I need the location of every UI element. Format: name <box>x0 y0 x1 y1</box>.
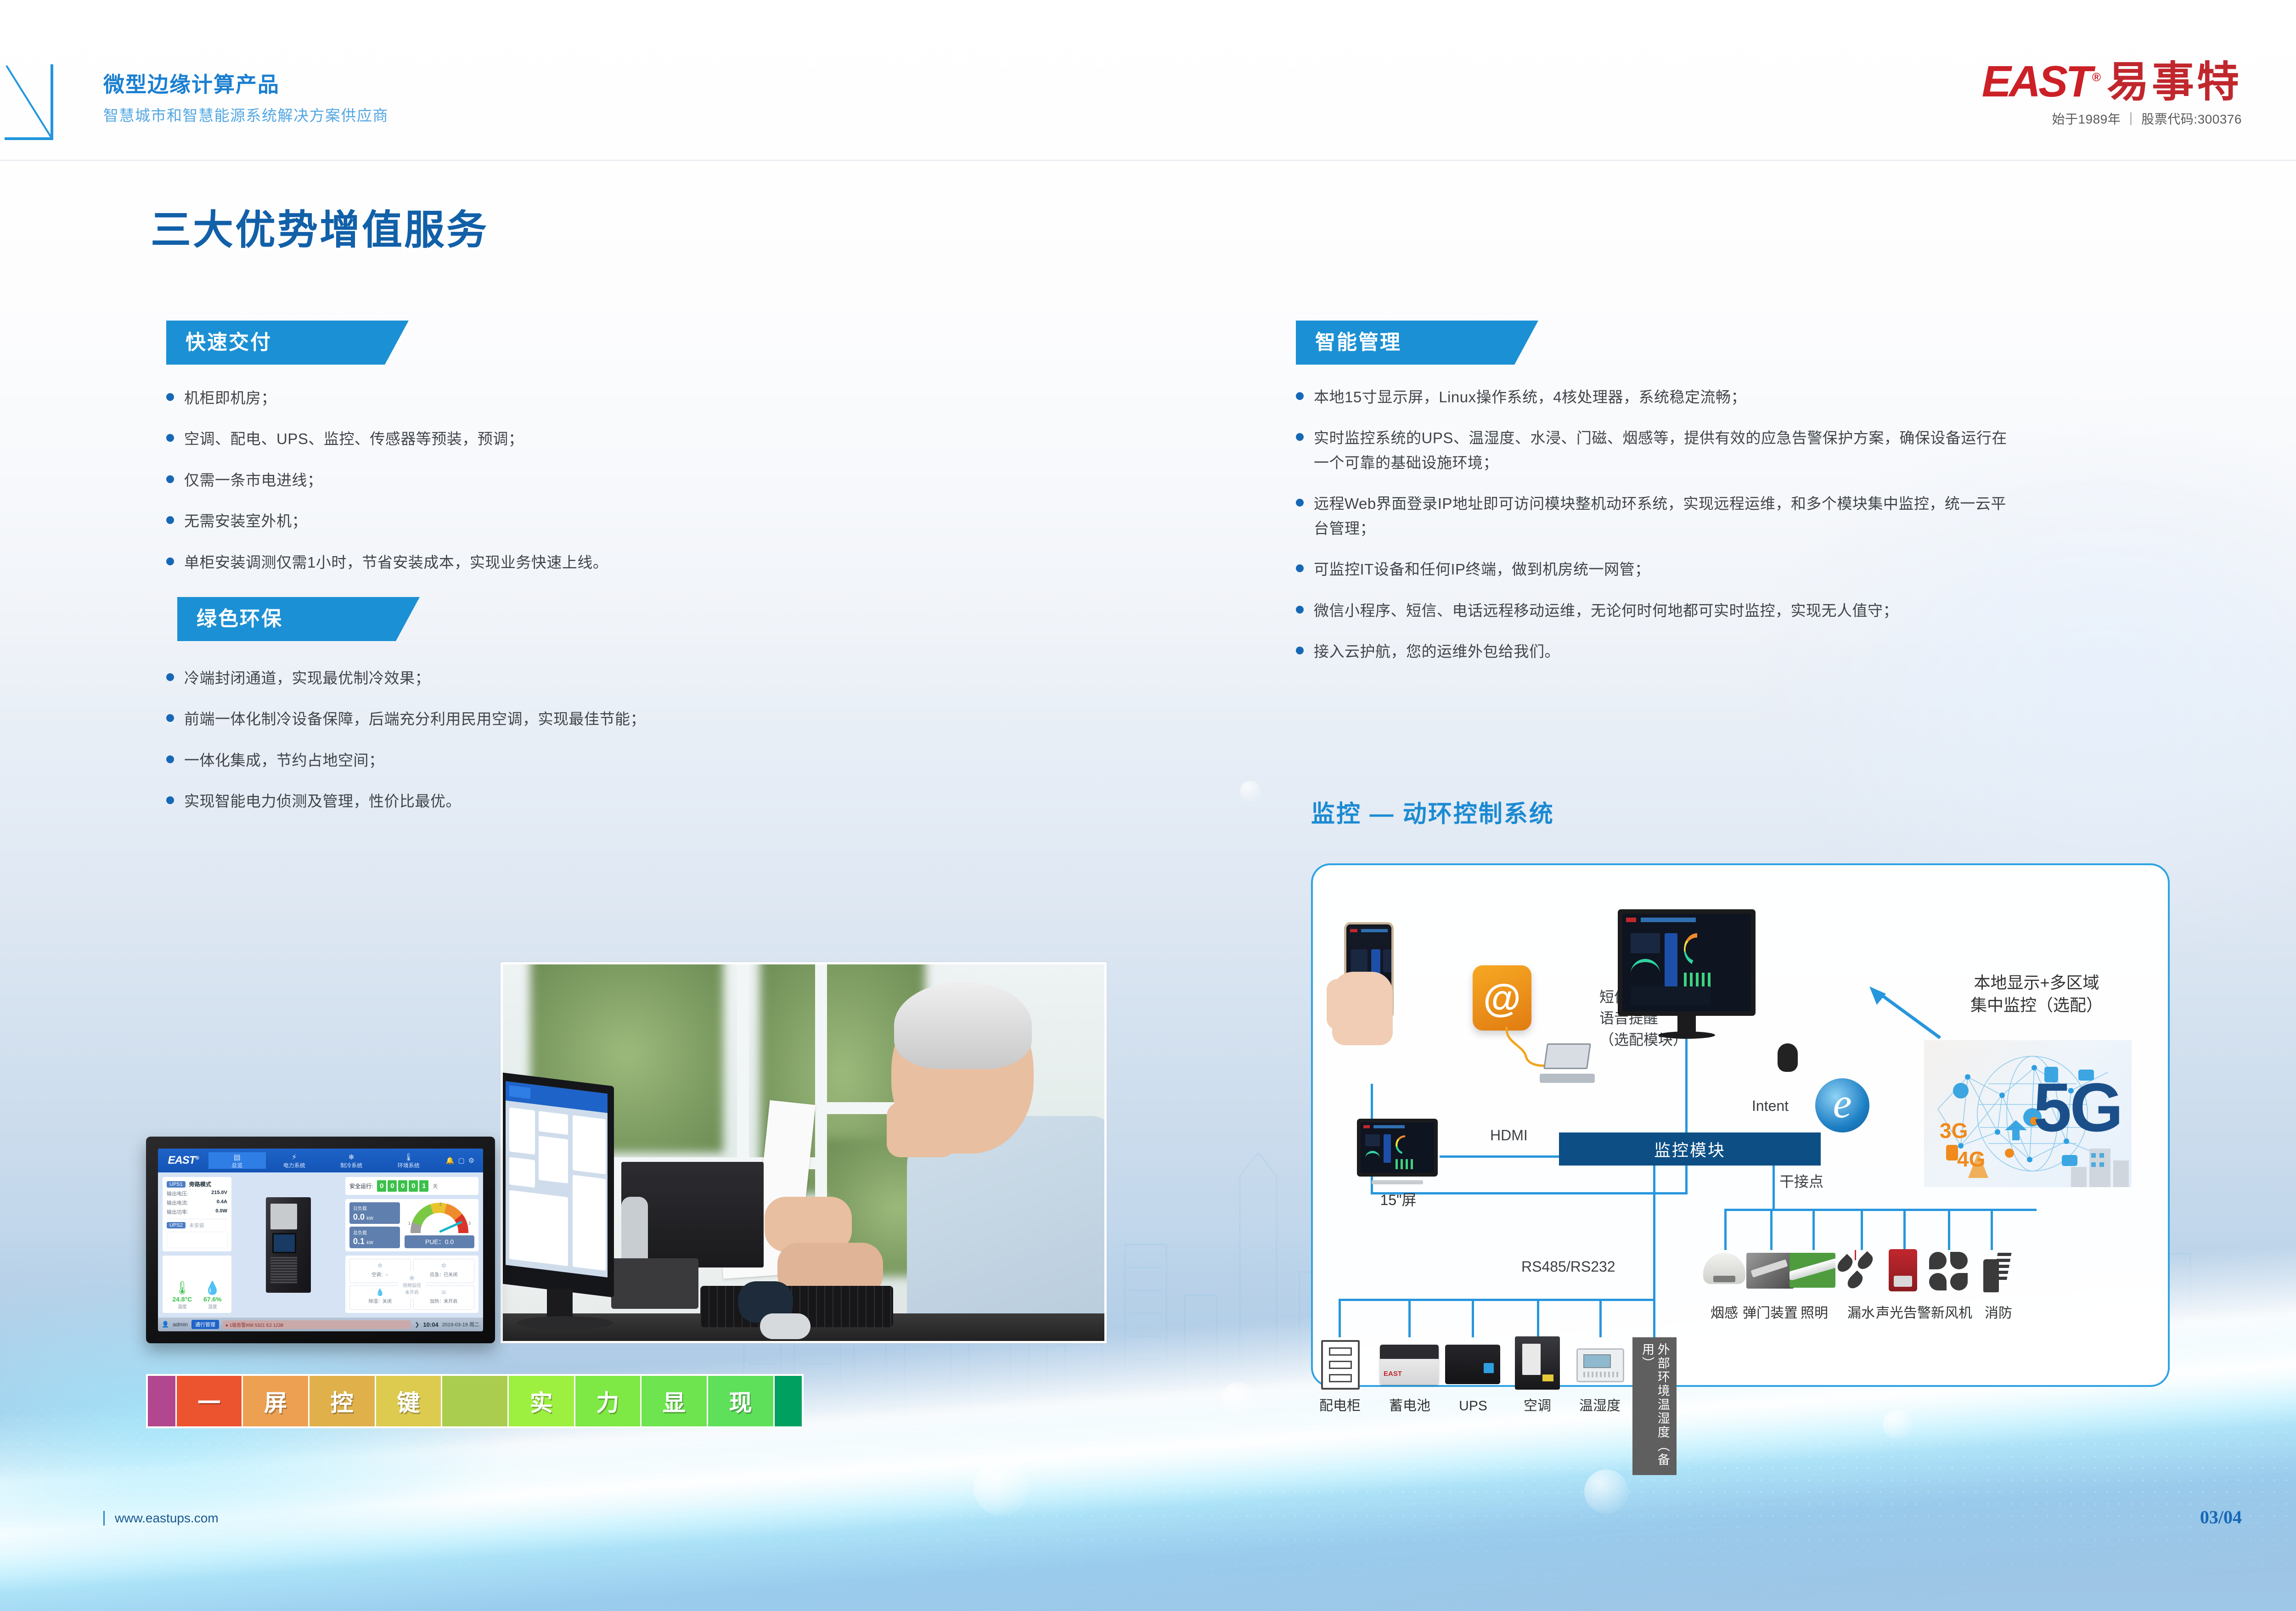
list-item: 前端一体化制冷设备保障，后端充分利用民用空调，实现最佳节能； <box>166 707 763 731</box>
bubble-decoration <box>1584 1470 1628 1514</box>
list-item: 一体化集成，节约占地空间； <box>166 748 763 772</box>
total-load-value: 0.1 <box>353 1237 365 1246</box>
ups2-status: 未安装 <box>189 1222 204 1229</box>
bullet-dot-icon <box>166 475 174 483</box>
bubble-decoration <box>1883 1410 1912 1439</box>
ups1-row-value: 0.4A <box>217 1199 227 1206</box>
ups1-mode: 旁路模式 <box>189 1180 211 1188</box>
total-load-unit: kW <box>366 1240 373 1245</box>
hmi-tab-label: 电力系统 <box>283 1162 305 1169</box>
bullet-dot-icon <box>166 558 174 565</box>
connector-serial-drop <box>1408 1299 1411 1337</box>
humidity-label: 湿度 <box>203 1303 222 1310</box>
desk-mouse <box>760 1313 810 1339</box>
gauge-tick: 3 <box>468 1221 471 1226</box>
list-item-text: 本地15寸显示屏，Linux操作系统，4核处理器，系统稳定流畅； <box>1314 385 1746 409</box>
temperature-value: 24.8°C <box>172 1296 192 1303</box>
connector-dry-drop <box>1991 1209 1993 1250</box>
bullet-list-green: 冷端封闭通道，实现最优制冷效果； 前端一体化制冷设备保障，后端充分利用民用空调，… <box>166 666 763 830</box>
section-heading: 智能管理 <box>1296 321 1538 365</box>
water-leak-icon <box>1839 1250 1883 1290</box>
hmi-tab-power[interactable]: ⚡电力系统 <box>266 1152 323 1168</box>
temp-humidity-icon <box>1576 1348 1624 1382</box>
hmi-statusbar: 👤 admin 通行管理 ● 1级告警#88 5321 E2 1238 ❯ 10… <box>158 1318 483 1331</box>
list-item: 仅需一条市电进线； <box>166 468 740 492</box>
logo-wordmark: EAST® <box>1982 62 2099 101</box>
remote-monitor-label: 本地显示+多区域 集中监控（选配） <box>1949 972 2124 1016</box>
runtime-digit: 0 <box>398 1180 407 1192</box>
ups2-badge: UPS2 <box>167 1222 186 1228</box>
strip-cell: 显 <box>642 1376 708 1426</box>
section-banner-smart-mgmt: 智能管理 <box>1296 321 1538 365</box>
hmi-tab-overview[interactable]: ▤总览 <box>208 1152 266 1168</box>
humidity-value: 67.6% <box>203 1296 222 1303</box>
laptop-icon <box>1540 1043 1595 1083</box>
hdmi-label: HDMI <box>1490 1127 1528 1144</box>
photo-monitor <box>501 1072 614 1298</box>
ups1-row-label: 输出电压: <box>167 1190 188 1197</box>
bullet-dot-icon <box>1296 606 1304 614</box>
cooling-icon: ❄ <box>323 1154 380 1162</box>
mouse-icon <box>1778 1043 1798 1072</box>
status-cell-label: 应急：已关闭 <box>430 1273 457 1278</box>
list-item: 本地15寸显示屏，Linux操作系统，4核处理器，系统稳定流畅； <box>1296 385 2012 409</box>
list-item-text: 远程Web界面登录IP地址即可访问模块整机动环系统，实现远程运维，和多个模块集中… <box>1314 491 2012 541</box>
list-item-text: 一体化集成，节约占地空间； <box>184 748 384 772</box>
list-item-text: 无需安装室外机； <box>184 509 307 533</box>
header-divider <box>0 160 2296 161</box>
monitor-stand-neck <box>1677 1016 1696 1033</box>
list-item: 可监控IT设备和任何IP终端，做到机房统一网管； <box>1296 557 2012 581</box>
desktop-monitor-icon <box>1618 909 1756 1016</box>
spare-sensor-box: 外部环境温湿度（备用） <box>1632 1337 1677 1475</box>
bullet-dot-icon <box>1296 392 1304 400</box>
fan-icon <box>1927 1250 1970 1292</box>
list-item: 空调、配电、UPS、监控、传感器等预装，预调； <box>166 427 740 451</box>
day-load-value: 0.0 <box>353 1212 365 1222</box>
hmi-clock: 10:04 <box>423 1321 438 1328</box>
list-item: 机柜即机房； <box>166 386 740 410</box>
snowflake-icon: ❄ <box>352 1262 408 1270</box>
device-label-ac: 空调 <box>1508 1397 1566 1416</box>
hmi-access-button[interactable]: 通行管理 <box>191 1320 219 1329</box>
hmi-tab-label: 制冷系统 <box>340 1162 362 1169</box>
logo-wordmark-text: EAST <box>1982 57 2090 106</box>
runtime-digits: 0 0 0 0 1 <box>377 1180 428 1192</box>
total-load: 总负载 0.1 kW <box>349 1227 400 1248</box>
hmi-navbar: EAST® ▤总览 ⚡电力系统 ❄制冷系统 🌡环境系统 🔔 ▢ ⚙ <box>158 1149 483 1172</box>
day-load-unit: kW <box>366 1216 373 1221</box>
monitor-stand-base <box>1658 1031 1715 1039</box>
list-item: 冷端封闭通道，实现最优制冷效果； <box>166 666 763 690</box>
temperature-label: 温度 <box>172 1303 192 1310</box>
device-label-fan: 新风机 <box>1922 1304 1981 1323</box>
connector-dry-drop <box>1948 1209 1950 1250</box>
day-load: 日负载 0.0 kW <box>349 1202 400 1224</box>
clipboard-icon[interactable]: ▢ <box>458 1156 465 1165</box>
list-item: 接入云护航，您的运维外包给我们。 <box>1296 639 2012 664</box>
person-neck <box>887 1102 956 1157</box>
connector-serial-drop <box>1599 1299 1602 1337</box>
serial-label: RS485/RS232 <box>1521 1258 1615 1275</box>
4g-label: 4G <box>1957 1147 1985 1172</box>
bullet-dot-icon <box>1296 564 1304 572</box>
day-load-label: 日负载 <box>353 1206 367 1211</box>
gauge-tick: 2 <box>439 1202 442 1206</box>
list-item-text: 接入云护航，您的运维外包给我们。 <box>1314 639 1560 664</box>
hmi-tab-label: 环境系统 <box>398 1162 420 1169</box>
header-corner-mark <box>51 64 108 140</box>
logo-chinese-name: 易事特 <box>2107 62 2242 102</box>
runtime-digit: 0 <box>377 1180 386 1192</box>
footer-page-number: 03/04 <box>2200 1506 2242 1528</box>
header-diagonal-line <box>5 64 53 140</box>
section-heading: 绿色环保 <box>177 597 420 641</box>
bullet-dot-icon <box>1296 647 1304 654</box>
section-banner-green: 绿色环保 <box>177 597 420 641</box>
ups1-badge: UPS1 <box>167 1181 186 1188</box>
logo-tagline: 始于1989年 ｜ 股票代码:300376 <box>1982 109 2242 128</box>
list-item-text: 冷端封闭通道，实现最优制冷效果； <box>184 666 430 690</box>
hmi-runtime-card: 安全运行: 0 0 0 0 1 天 <box>345 1177 478 1195</box>
device-label-fire: 消防 <box>1973 1304 2024 1323</box>
dry-contact-label: 干接点 <box>1779 1170 1823 1191</box>
environment-icon: 🌡 <box>380 1154 438 1162</box>
list-item: 微信小程序、短信、电话远程移动运维，无论何时何地都可实时监控，实现无人值守； <box>1296 598 2012 623</box>
strip-cell <box>775 1376 802 1426</box>
connector-dry-drop <box>1903 1209 1906 1250</box>
connector-serial-drop <box>1339 1299 1341 1337</box>
strip-cell: 现 <box>708 1376 775 1426</box>
bullet-dot-icon <box>166 393 174 401</box>
bubble-decoration <box>1221 1382 1255 1415</box>
list-item-text: 仅需一条市电进线； <box>184 468 323 492</box>
header-subtitle: 智慧城市和智慧能源系统解决方案供应商 <box>103 103 388 125</box>
bubble-decoration <box>1240 781 1261 802</box>
strip-cell: 实 <box>509 1376 575 1426</box>
list-item-text: 可监控IT设备和任何IP终端，做到机房统一网管； <box>1314 557 1650 581</box>
display-stand <box>1372 1180 1423 1184</box>
pue-value: PUE：0.0 <box>405 1235 474 1248</box>
strip-cell: 力 <box>575 1376 642 1426</box>
device-label-ups: UPS <box>1444 1397 1502 1416</box>
air-conditioner-icon <box>1515 1336 1560 1390</box>
list-item-text: 单柜安装调测仅需1小时，节省安装成本，实现业务快速上线。 <box>184 550 608 575</box>
strip-cell: 键 <box>376 1376 443 1426</box>
hmi-tab-environment[interactable]: 🌡环境系统 <box>380 1152 438 1168</box>
diagram-title: 监控 — 动环控制系统 <box>1311 794 1554 829</box>
hmi-temperature: 🌡 24.8°C 温度 <box>172 1280 192 1310</box>
connector-dry-drop <box>1861 1209 1863 1250</box>
bullet-dot-icon <box>166 796 174 804</box>
registered-trademark-icon: ® <box>2092 70 2099 84</box>
hmi-right-column: 安全运行: 0 0 0 0 1 天 日负载 0.0 <box>345 1177 478 1313</box>
list-item: 单柜安装调测仅需1小时，节省安装成本，实现业务快速上线。 <box>166 550 740 575</box>
runtime-digit: 0 <box>409 1180 418 1192</box>
bullet-dot-icon <box>166 673 174 681</box>
device-label-cabinet: 配电柜 <box>1311 1397 1369 1416</box>
screen-size-label: 15"屏 <box>1357 1190 1440 1210</box>
hmi-brand-logo: EAST® <box>158 1154 208 1167</box>
photo-monitor-base <box>517 1316 613 1330</box>
bullet-list-smart-mgmt: 本地15寸显示屏，Linux操作系统，4核处理器，系统稳定流畅； 实时监控系统的… <box>1296 385 2012 681</box>
bullet-dot-icon <box>166 714 174 722</box>
runtime-digit: 0 <box>388 1180 397 1192</box>
hmi-status-card: ❄空调：-- ✲应急：已关闭 💧除湿：关闭 ≋加热：未开启 ◉ 视频监控 未开启 <box>345 1256 478 1313</box>
lighting-icon <box>1790 1253 1835 1288</box>
list-item: 远程Web界面登录IP地址即可访问模块整机动环系统，实现远程运维，和多个模块集中… <box>1296 491 2012 541</box>
camera-icon: ◉ <box>403 1273 421 1281</box>
ups1-row-value: 215.0V <box>211 1190 227 1197</box>
bullet-dot-icon <box>1296 499 1304 507</box>
bullet-dot-icon <box>166 434 174 442</box>
humidity-drop-icon: 💧 <box>203 1280 222 1296</box>
page-header: 微型边缘计算产品 智慧城市和智慧能源系统解决方案供应商 EAST® 易事特 始于… <box>0 0 2296 161</box>
gauge-needle <box>439 1221 462 1233</box>
network-5g-illustration: 5G 3G 4G <box>1924 1040 2132 1187</box>
strip-cell <box>442 1376 509 1426</box>
bullet-dot-icon <box>166 755 174 763</box>
ups1-row-label: 输出功率: <box>167 1208 188 1216</box>
status-cell-label: 加热：未开启 <box>430 1299 457 1304</box>
strip-cell: 控 <box>310 1376 376 1426</box>
section-banner-fast-delivery: 快速交付 <box>166 321 409 365</box>
total-load-label: 总负载 <box>353 1231 367 1236</box>
device-label-battery: 蓄电池 <box>1381 1397 1439 1416</box>
hmi-touch-panel: EAST® ▤总览 ⚡电力系统 ❄制冷系统 🌡环境系统 🔔 ▢ ⚙ UPS1 旁… <box>146 1137 495 1343</box>
remote-monitor-label-line: 本地显示+多区域 <box>1949 972 2124 994</box>
internet-label: Intent <box>1752 1098 1789 1115</box>
list-item-text: 实时监控系统的UPS、温湿度、水浸、门磁、烟感等，提供有效的应急告警保护方案，确… <box>1314 426 2012 475</box>
monitoring-module-box: 监控模块 <box>1559 1132 1821 1166</box>
list-item-text: 实现智能电力侦测及管理，性价比最优。 <box>184 789 461 813</box>
strip-cell: 屏 <box>243 1376 310 1426</box>
runtime-unit: 天 <box>433 1183 438 1190</box>
bell-icon[interactable]: 🔔 <box>446 1156 455 1165</box>
ups1-row-value: 0.0W <box>215 1208 227 1216</box>
diagram-content: @ 短信/邮件/ 语音提醒 （选配模块） 本地显示+多区域 集中监控（选配） <box>1311 863 2170 1387</box>
hmi-left-column: UPS1 旁路模式 输出电压:215.0V 输出电流:0.4A 输出功率:0.0… <box>163 1177 231 1313</box>
remote-monitor-label-line: 集中监控（选配） <box>1949 994 2124 1017</box>
connector-serial-drop <box>1472 1299 1474 1337</box>
connector-serial-drop <box>1537 1299 1539 1337</box>
video-label: 视频监控 <box>403 1281 421 1288</box>
strip-cell: 一 <box>177 1376 243 1426</box>
5g-label: 5G <box>2033 1068 2122 1147</box>
hmi-rack-column <box>236 1177 341 1313</box>
connector-serial-drop-spare <box>1653 1299 1655 1337</box>
page-title: 三大优势增值服务 <box>151 197 489 256</box>
connector-serial-trunk <box>1653 1190 1655 1301</box>
list-item-text: 前端一体化制冷设备保障，后端充分利用民用空调，实现最佳节能； <box>184 707 646 731</box>
footer-url[interactable]: www.eastups.com <box>103 1511 219 1526</box>
arrow-to-monitor-icon <box>1867 986 1945 1042</box>
list-item: 实现智能电力侦测及管理，性价比最优。 <box>166 789 763 813</box>
list-item-text: 机柜即机房； <box>184 386 276 410</box>
ups1-row-label: 输出电流: <box>167 1199 188 1206</box>
gear-icon[interactable]: ⚙ <box>468 1156 474 1165</box>
ups-icon <box>1445 1345 1500 1384</box>
battery-icon <box>1380 1345 1439 1384</box>
status-cell-label: 空调：-- <box>371 1273 388 1278</box>
fire-extinguisher-icon <box>1980 1250 2005 1292</box>
fan-icon: ✲ <box>416 1262 472 1270</box>
alarm-strobe-icon <box>1889 1249 1917 1291</box>
hmi-tab-label: 总览 <box>231 1162 242 1169</box>
strip-cell <box>148 1376 177 1426</box>
user-icon: 👤 <box>162 1321 169 1328</box>
hmi-screen: EAST® ▤总览 ⚡电力系统 ❄制冷系统 🌡环境系统 🔔 ▢ ⚙ UPS1 旁… <box>158 1149 483 1331</box>
internet-explorer-icon <box>1815 1078 1869 1132</box>
status-center-video[interactable]: ◉ 视频监控 未开启 <box>398 1271 426 1298</box>
pue-gauge <box>411 1203 468 1233</box>
connector-serial-bus <box>1339 1299 1655 1301</box>
bullet-list-fast-delivery: 机柜即机房； 空调、配电、UPS、监控、传感器等预装，预调； 仅需一条市电进线；… <box>166 386 740 591</box>
slogan-color-strip: 一 屏 控 键 实 力 显 现 <box>146 1374 804 1428</box>
header-title: 微型边缘计算产品 <box>103 68 280 98</box>
hmi-date: 2019-03-19 周二 <box>442 1321 479 1328</box>
list-item-text: 微信小程序、短信、电话远程移动运维，无论何时何地都可实时监控，实现无人值守； <box>1314 598 1898 623</box>
hand-thumb <box>1327 979 1348 1030</box>
runtime-digit: 1 <box>419 1180 428 1192</box>
runtime-label: 安全运行: <box>349 1182 373 1190</box>
power-icon: ⚡ <box>266 1154 323 1162</box>
hmi-tab-cooling[interactable]: ❄制冷系统 <box>323 1152 380 1168</box>
connector-dry-drop <box>1770 1209 1773 1250</box>
list-item-text: 空调、配电、UPS、监控、传感器等预装，预调； <box>184 427 523 451</box>
email-at-icon: @ <box>1473 965 1531 1031</box>
list-item: 无需安装室外机； <box>166 509 740 533</box>
bubble-decoration <box>974 1460 1029 1515</box>
connector-dry-drop <box>1724 1209 1727 1250</box>
hmi-env-card: 🌡 24.8°C 温度 💧 67.6% 湿度 <box>163 1256 231 1313</box>
bullet-dot-icon <box>1296 433 1304 441</box>
cabinet-icon <box>1321 1340 1360 1390</box>
device-label-temp-humidity: 温湿度 <box>1571 1397 1629 1416</box>
office-photo <box>501 962 1107 1343</box>
local-display-icon <box>1357 1119 1438 1177</box>
connector-dry-drop <box>1812 1209 1815 1250</box>
hmi-alarm-ticker[interactable]: ● 1级告警#88 5321 E2 1238 <box>223 1320 411 1329</box>
phone-base <box>611 1258 698 1309</box>
video-status: 未开启 <box>403 1288 421 1295</box>
status-cell-label: 除湿：关闭 <box>369 1299 392 1304</box>
hmi-load-card: 日负载 0.0 kW 总负载 0.1 kW 1 <box>345 1199 478 1251</box>
section-heading: 快速交付 <box>166 321 409 365</box>
list-item: 实时监控系统的UPS、温湿度、水浸、门磁、烟感等，提供有效的应急告警保护方案，确… <box>1296 426 2012 475</box>
rack-illustration <box>266 1197 311 1293</box>
hmi-toolbar: 🔔 ▢ ⚙ <box>437 1156 483 1165</box>
hmi-body: UPS1 旁路模式 输出电压:215.0V 输出电流:0.4A 输出功率:0.0… <box>158 1172 483 1318</box>
chevron-right-icon[interactable]: ❯ <box>415 1321 419 1328</box>
hmi-username: admin <box>173 1321 188 1328</box>
door-opener-icon <box>1746 1253 1794 1289</box>
hmi-humidity: 💧 67.6% 湿度 <box>203 1280 222 1310</box>
gauge-tick: 1 <box>408 1221 411 1226</box>
hmi-ups-card: UPS1 旁路模式 输出电压:215.0V 输出电流:0.4A 输出功率:0.0… <box>163 1177 231 1251</box>
3g-label: 3G <box>1940 1118 1968 1143</box>
person-hair <box>894 982 1032 1069</box>
company-logo: EAST® 易事特 始于1989年 ｜ 股票代码:300376 <box>1982 62 2242 128</box>
thermometer-icon: 🌡 <box>172 1280 192 1296</box>
keyboard-icon <box>1632 1045 1770 1065</box>
dashboard-icon: ▤ <box>208 1154 266 1162</box>
smoke-detector-icon <box>1703 1253 1745 1284</box>
bullet-dot-icon <box>166 516 174 524</box>
